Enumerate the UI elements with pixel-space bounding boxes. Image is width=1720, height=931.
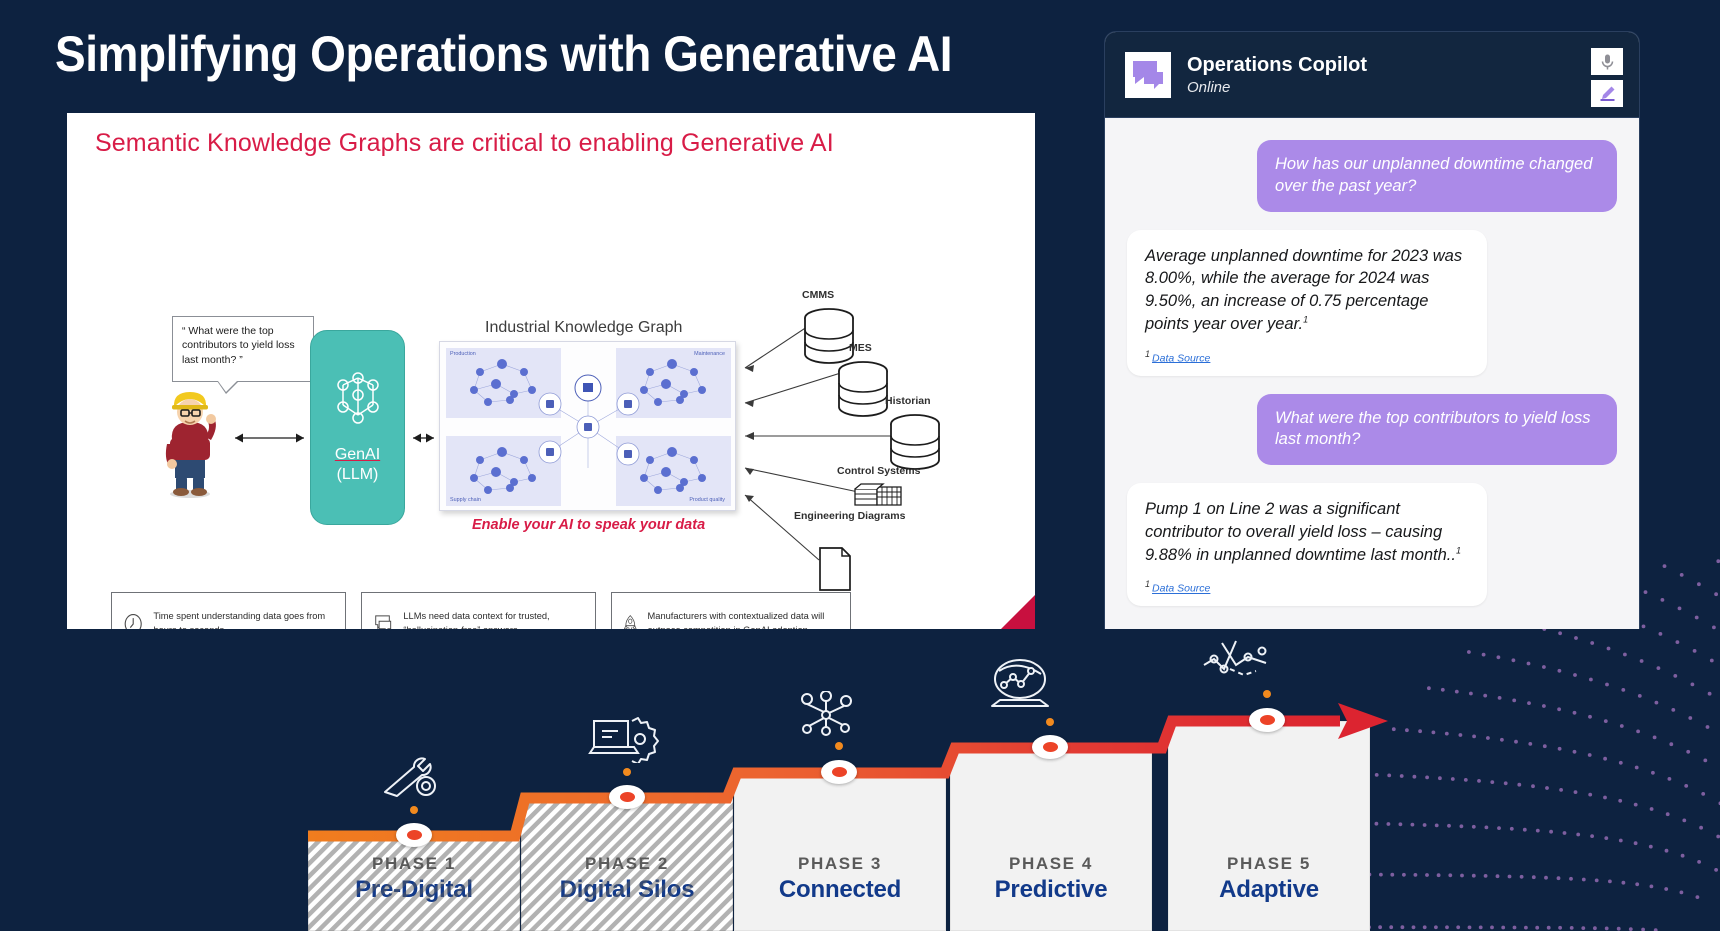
pencil-icon[interactable] bbox=[1591, 80, 1623, 107]
phase-marker-5[interactable] bbox=[1249, 708, 1285, 732]
footnote-marker: 1 bbox=[1303, 314, 1308, 324]
graph-nodes-icon bbox=[331, 371, 385, 431]
document-icon bbox=[817, 545, 853, 593]
source-label-control-systems: Control Systems bbox=[837, 465, 920, 477]
callout-card: LLMs need data context for trusted, “hal… bbox=[361, 592, 596, 629]
data-source-link[interactable]: 1Data Source bbox=[1145, 348, 1469, 366]
callout-text: Manufacturers with contextualized data w… bbox=[648, 610, 839, 629]
maturity-staircase: PHASE 1 Pre-Digital PHASE 2 Digital Silo… bbox=[0, 630, 1400, 931]
llm-label: (LLM) bbox=[337, 466, 379, 483]
user-message-bubble: What were the top contributors to yield … bbox=[1257, 394, 1617, 466]
database-icon bbox=[835, 358, 891, 420]
source-label-mes: MES bbox=[849, 342, 872, 354]
database-icon bbox=[887, 411, 943, 473]
phase-dot-1 bbox=[410, 806, 418, 814]
trend-lines-icon bbox=[1200, 635, 1276, 688]
source-label-historian: Historian bbox=[885, 395, 931, 407]
clock-icon bbox=[123, 608, 143, 630]
chat-status: Online bbox=[1187, 79, 1367, 96]
slide-tagline: Enable your AI to speak your data bbox=[472, 517, 705, 533]
genai-llm-box: GenAI (LLM) bbox=[310, 330, 405, 525]
bot-message-text: Pump 1 on Line 2 was a significant contr… bbox=[1145, 500, 1456, 564]
chat-message-user: What were the top contributors to yield … bbox=[1127, 394, 1617, 466]
footnote-marker: 1 bbox=[1456, 545, 1461, 555]
chat-header: Operations Copilot Online bbox=[1105, 32, 1639, 118]
laptop-gear-icon bbox=[588, 715, 660, 768]
phase-dot-5 bbox=[1263, 690, 1271, 698]
phase-marker-2[interactable] bbox=[609, 785, 645, 809]
chat-message-bot: Average unplanned downtime for 2023 was … bbox=[1127, 230, 1617, 376]
chat-bubble-icon bbox=[1125, 52, 1171, 98]
wrench-icon bbox=[378, 756, 440, 803]
chat-message-bot: Pump 1 on Line 2 was a significant contr… bbox=[1127, 483, 1617, 606]
microphone-icon[interactable] bbox=[1591, 48, 1623, 75]
phase-marker-3[interactable] bbox=[821, 760, 857, 784]
data-source-link[interactable]: 1Data Source bbox=[1145, 578, 1469, 596]
chat-bubbles-icon bbox=[373, 609, 393, 630]
phase-dot-3 bbox=[835, 742, 843, 750]
callout-text: Time spent understanding data goes from … bbox=[153, 610, 334, 629]
control-panel-icon bbox=[853, 481, 905, 509]
callout-card: Manufacturers with contextualized data w… bbox=[611, 592, 851, 629]
arrow-genai-graph bbox=[406, 431, 441, 445]
knowledge-graph-nodes bbox=[440, 342, 736, 511]
bot-message-bubble: Pump 1 on Line 2 was a significant contr… bbox=[1127, 483, 1487, 606]
network-node-icon bbox=[790, 691, 860, 741]
chat-message-list[interactable]: How has our unplanned downtime changed o… bbox=[1105, 118, 1639, 629]
operator-avatar bbox=[159, 388, 221, 498]
chat-title: Operations Copilot bbox=[1187, 54, 1367, 76]
knowledge-graph-panel: Production Maintenance Supply chain Prod… bbox=[439, 341, 736, 511]
chat-action-buttons bbox=[1591, 48, 1623, 107]
phase-marker-4[interactable] bbox=[1032, 735, 1068, 759]
genai-term: GenAI bbox=[743, 625, 769, 630]
chat-message-user: How has our unplanned downtime changed o… bbox=[1127, 140, 1617, 212]
phase-dot-4 bbox=[1046, 718, 1054, 726]
slide-corner-accent bbox=[1001, 595, 1035, 629]
rocket-icon bbox=[623, 607, 638, 630]
genai-label: GenAI bbox=[335, 446, 380, 463]
bot-message-bubble: Average unplanned downtime for 2023 was … bbox=[1127, 230, 1487, 376]
phase-dot-2 bbox=[623, 768, 631, 776]
callout-card: Time spent understanding data goes from … bbox=[111, 592, 346, 629]
crystal-ball-chart-icon bbox=[985, 658, 1055, 715]
source-label-cmms: CMMS bbox=[802, 289, 834, 301]
arrow-operator-genai bbox=[227, 431, 312, 445]
callout-text: LLMs need data context for trusted, “hal… bbox=[403, 610, 584, 629]
page-title: Simplifying Operations with Generative A… bbox=[55, 25, 952, 83]
source-label-engineering-diagrams: Engineering Diagrams bbox=[794, 510, 905, 523]
phase-marker-1[interactable] bbox=[396, 823, 432, 847]
presentation-slide: Semantic Knowledge Graphs are critical t… bbox=[67, 113, 1035, 629]
knowledge-graph-title: Industrial Knowledge Graph bbox=[485, 319, 682, 337]
user-message-bubble: How has our unplanned downtime changed o… bbox=[1257, 140, 1617, 212]
speech-bubble: “ What were the top contributors to yiel… bbox=[172, 316, 314, 382]
slide-title: Semantic Knowledge Graphs are critical t… bbox=[95, 129, 834, 158]
operations-copilot-panel: Operations Copilot Online How has our un… bbox=[1104, 31, 1640, 629]
